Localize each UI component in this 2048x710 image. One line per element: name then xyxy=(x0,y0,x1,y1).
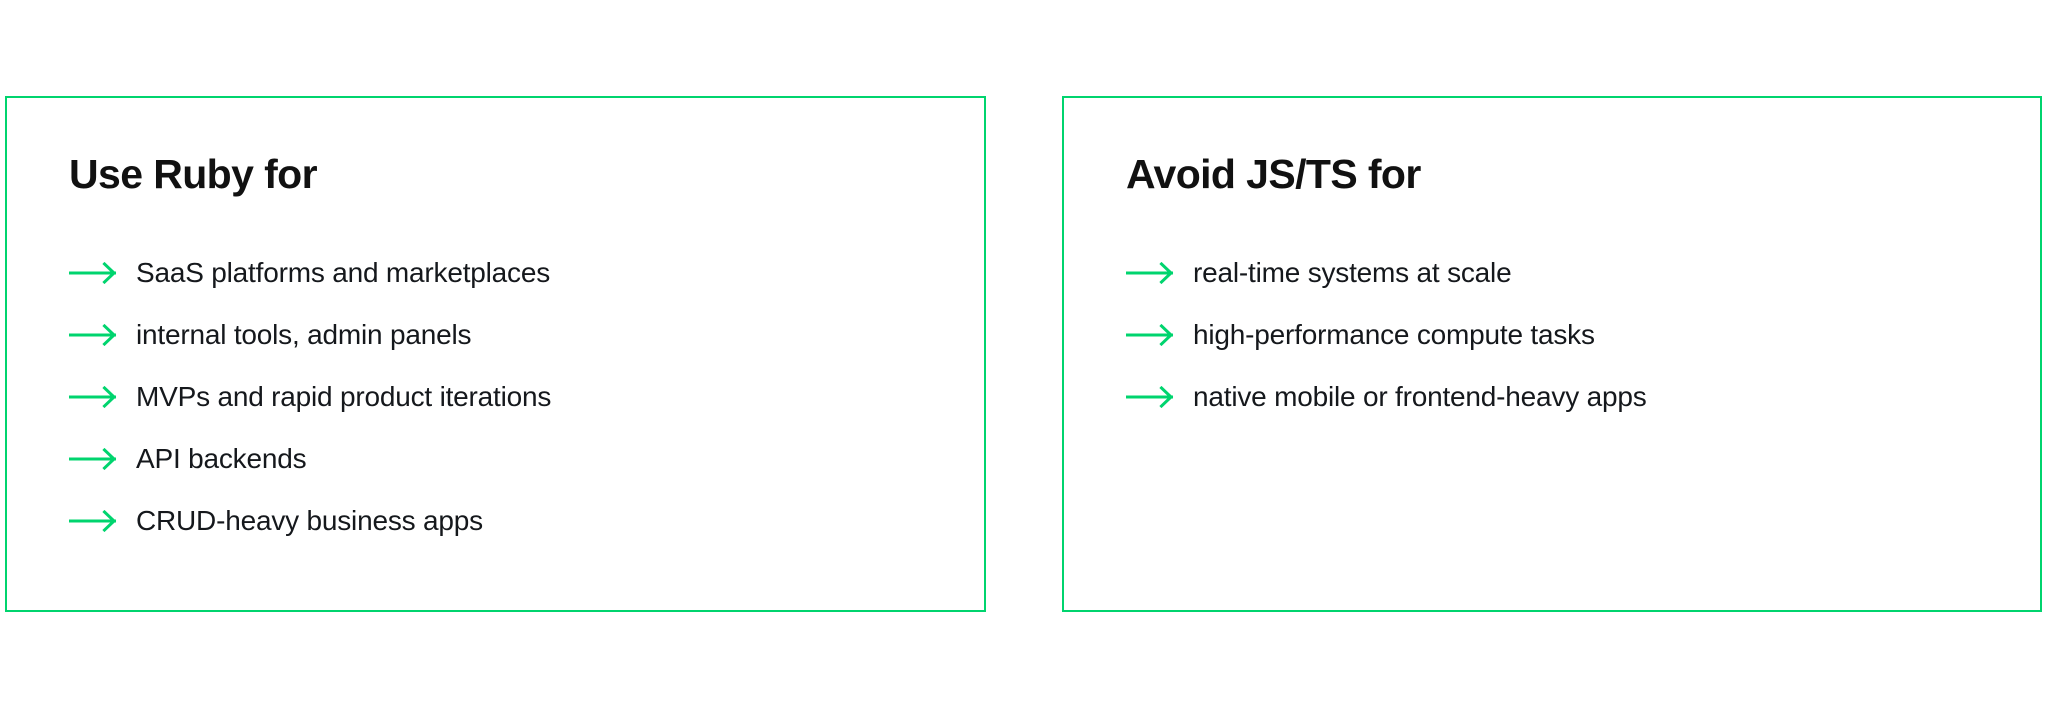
panel-avoid-js-ts-for: Avoid JS/TS for real-time systems at sca… xyxy=(1062,96,2042,612)
list-item-label: CRUD-heavy business apps xyxy=(136,507,483,535)
panel-use-ruby-for: Use Ruby for SaaS platforms and marketpl… xyxy=(5,96,986,612)
arrow-right-icon xyxy=(1126,262,1174,284)
list-item-label: real-time systems at scale xyxy=(1193,259,1511,287)
list-item: internal tools, admin panels xyxy=(69,304,960,366)
list-item-label: native mobile or frontend-heavy apps xyxy=(1193,383,1647,411)
list-item: CRUD-heavy business apps xyxy=(69,490,960,552)
list-item: SaaS platforms and marketplaces xyxy=(69,242,960,304)
list-item: native mobile or frontend-heavy apps xyxy=(1126,366,2016,428)
arrow-right-icon xyxy=(69,262,117,284)
arrow-right-icon xyxy=(69,448,117,470)
list-item: real-time systems at scale xyxy=(1126,242,2016,304)
arrow-right-icon xyxy=(1126,324,1174,346)
list-item: MVPs and rapid product iterations xyxy=(69,366,960,428)
list-item-label: API backends xyxy=(136,445,306,473)
panel-title: Avoid JS/TS for xyxy=(1126,154,1421,195)
arrow-right-icon xyxy=(1126,386,1174,408)
panel-title: Use Ruby for xyxy=(69,154,317,195)
arrow-right-icon xyxy=(69,510,117,532)
list-item: API backends xyxy=(69,428,960,490)
list-item-label: internal tools, admin panels xyxy=(136,321,471,349)
arrow-right-icon xyxy=(69,324,117,346)
list-item-label: high-performance compute tasks xyxy=(1193,321,1595,349)
panel-list: real-time systems at scalehigh-performan… xyxy=(1126,242,2016,428)
list-item: high-performance compute tasks xyxy=(1126,304,2016,366)
panel-list: SaaS platforms and marketplacesinternal … xyxy=(69,242,960,552)
list-item-label: SaaS platforms and marketplaces xyxy=(136,259,550,287)
arrow-right-icon xyxy=(69,386,117,408)
list-item-label: MVPs and rapid product iterations xyxy=(136,383,551,411)
comparison-panels-canvas: Use Ruby for SaaS platforms and marketpl… xyxy=(0,0,2048,710)
